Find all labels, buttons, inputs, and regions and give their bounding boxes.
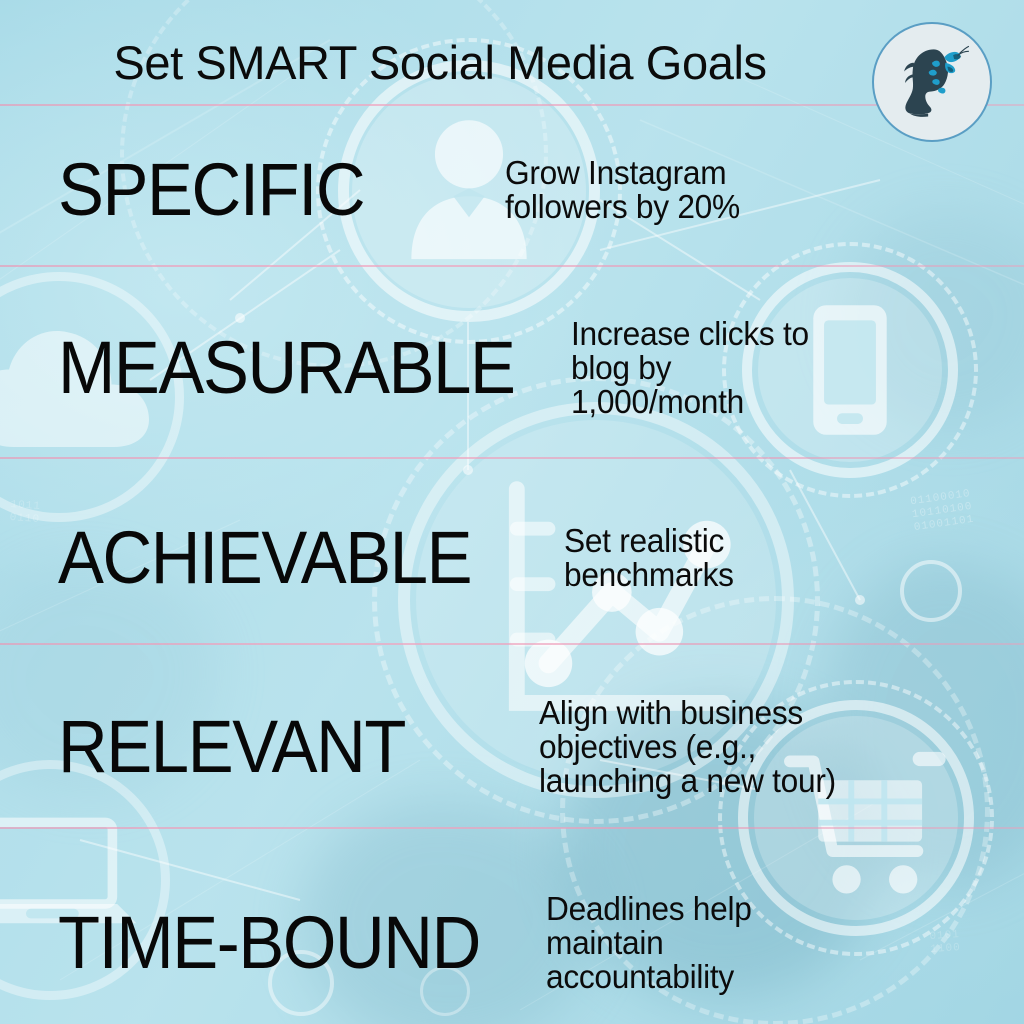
separator-rule bbox=[0, 104, 1024, 106]
smart-term: MEASURABLE bbox=[58, 331, 514, 405]
smart-row-specific: SPECIFIC Grow Instagram followers by 20% bbox=[0, 140, 1024, 240]
smart-row-timebound: TIME-BOUND Deadlines help maintain accou… bbox=[0, 888, 1024, 998]
smart-term: RELEVANT bbox=[58, 710, 405, 784]
separator-rule bbox=[0, 827, 1024, 829]
smart-detail: Align with business objectives (e.g., la… bbox=[539, 696, 836, 799]
smart-row-measurable: MEASURABLE Increase clicks to blog by 1,… bbox=[0, 318, 1024, 418]
separator-rule bbox=[0, 457, 1024, 459]
smart-detail: Grow Instagram followers by 20% bbox=[505, 156, 740, 225]
brand-logo[interactable] bbox=[872, 22, 992, 142]
smart-detail: Deadlines help maintain accountability bbox=[546, 892, 752, 995]
smart-detail: Increase clicks to blog by 1,000/month bbox=[571, 317, 809, 420]
separator-rule bbox=[0, 265, 1024, 267]
smart-goals-infographic: 01100010 10110100 01001101 1011 0110 010… bbox=[0, 0, 1024, 1024]
smart-detail: Set realistic benchmarks bbox=[564, 524, 734, 593]
smart-term: ACHIEVABLE bbox=[58, 521, 471, 595]
smart-row-achievable: ACHIEVABLE Set realistic benchmarks bbox=[0, 508, 1024, 608]
woman-profile-butterfly-icon bbox=[884, 34, 980, 130]
page-title: Set SMART Social Media Goals bbox=[0, 38, 880, 88]
smart-term: SPECIFIC bbox=[58, 153, 364, 227]
smart-term: TIME-BOUND bbox=[58, 906, 480, 980]
separator-rule bbox=[0, 643, 1024, 645]
smart-row-relevant: RELEVANT Align with business objectives … bbox=[0, 692, 1024, 802]
